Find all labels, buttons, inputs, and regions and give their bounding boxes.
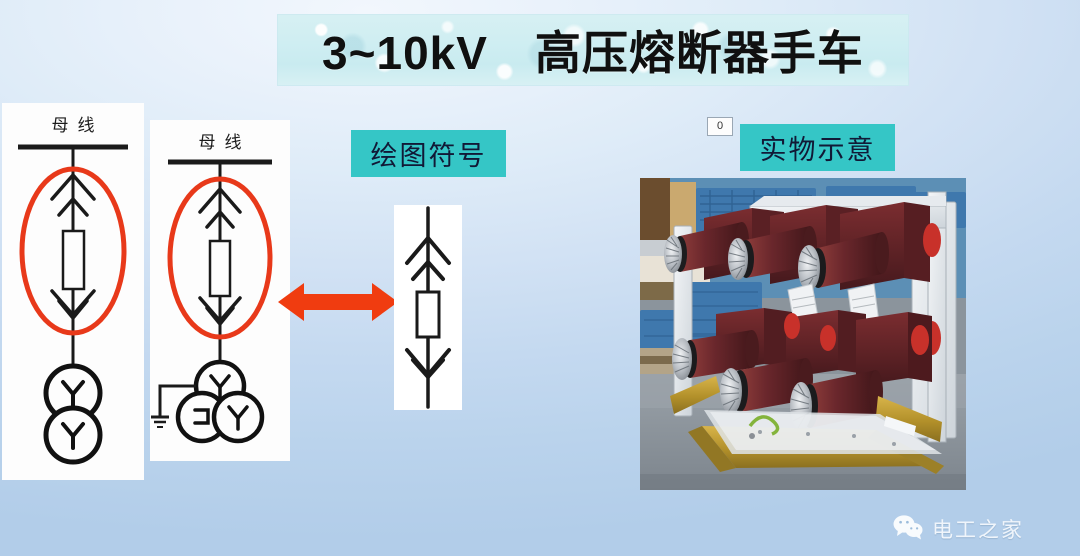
caption-physical-object-text: 实物示意 xyxy=(760,128,876,167)
watermark: 电工之家 xyxy=(893,512,1068,546)
title-banner: 3~10kV 高压熔断器手车 xyxy=(277,14,909,86)
symbol-reference-panel xyxy=(394,205,462,410)
wechat-icon xyxy=(893,514,923,545)
marker-zero-box[interactable]: 0 xyxy=(707,117,733,136)
caption-drawing-symbol: 绘图符号 xyxy=(351,130,506,177)
caption-drawing-symbol-text: 绘图符号 xyxy=(371,134,487,173)
slide-canvas: 3~10kV 高压熔断器手车 母线 xyxy=(0,0,1080,556)
schematic-one-svg xyxy=(2,103,144,480)
busbar-label-two: 母线 xyxy=(150,128,290,153)
product-photo xyxy=(640,178,966,490)
schematic-panel-two: 母线 xyxy=(150,120,290,461)
schematic-two-svg xyxy=(150,120,290,461)
schematic-panel-one: 母线 xyxy=(2,103,144,480)
busbar-label-one: 母线 xyxy=(2,111,144,136)
double-headed-arrow xyxy=(278,276,398,328)
page-title: 3~10kV 高压熔断器手车 xyxy=(277,14,909,86)
marker-zero-value: 0 xyxy=(717,121,723,132)
fuse-switch-symbol-svg xyxy=(394,205,462,410)
caption-physical-object: 实物示意 xyxy=(740,124,895,171)
watermark-text: 电工之家 xyxy=(932,514,1024,544)
